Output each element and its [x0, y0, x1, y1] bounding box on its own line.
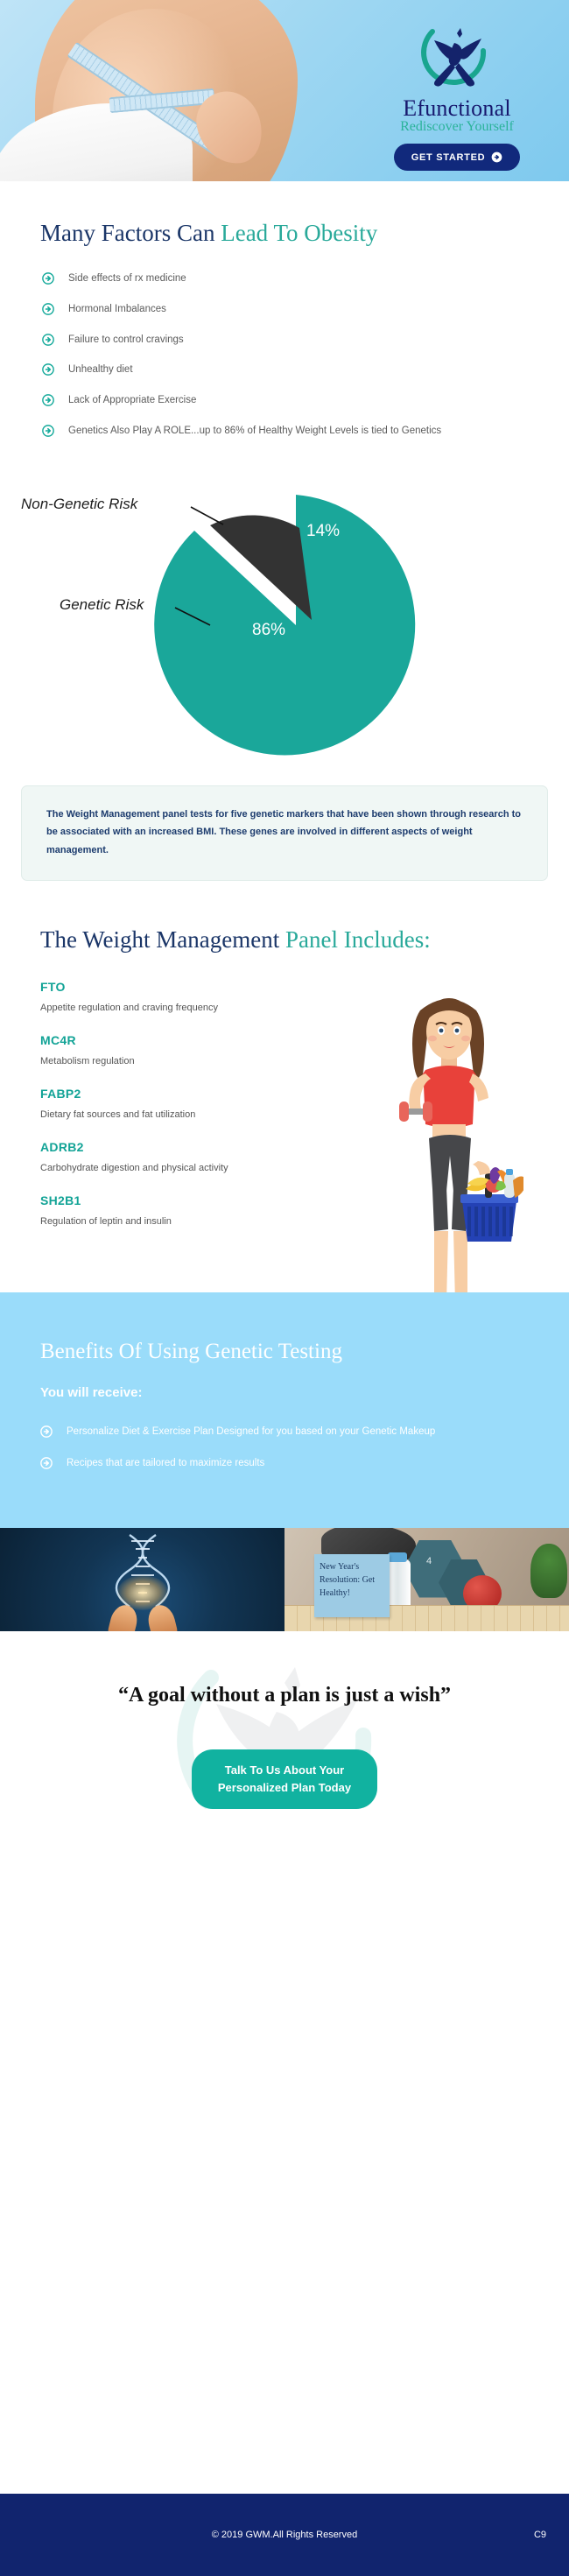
arrow-circle-right-icon — [42, 303, 54, 315]
list-item-label: Side effects of rx medicine — [68, 271, 186, 287]
gene-description: Dietary fat sources and fat utilization — [40, 1109, 329, 1120]
brand-name: Efunctional — [352, 96, 562, 120]
gene-description: Carbohydrate digestion and physical acti… — [40, 1163, 329, 1173]
benefits-subheading: You will receive: — [40, 1385, 529, 1400]
gene-item: MC4R Metabolism regulation — [40, 1033, 329, 1066]
benefits-heading: Benefits Of Using Genetic Testing — [40, 1340, 529, 1364]
arrow-circle-right-icon — [42, 394, 54, 406]
infographic-page: Efunctional Rediscover Yourself GET STAR… — [0, 0, 569, 2576]
fitness-gear-photo: 4 New Year's Resolution: Get Healthy! — [284, 1528, 569, 1631]
page-code: C9 — [534, 2530, 546, 2540]
bottle-cap-shape — [388, 1552, 407, 1562]
factors-section: Many Factors Can Lead To Obesity Side ef… — [0, 181, 569, 440]
list-item-label: Recipes that are tailored to maximize re… — [67, 1456, 264, 1472]
efunctional-logo-icon — [413, 19, 501, 95]
right-hand-shape — [144, 1601, 179, 1630]
gene-description: Regulation of leptin and insulin — [40, 1216, 329, 1227]
gene-item: FABP2 Dietary fat sources and fat utiliz… — [40, 1087, 329, 1120]
weight-management-panel-section: The Weight Management Panel Includes: FT… — [0, 881, 569, 1292]
hero-photo-waist-measurement — [0, 0, 350, 181]
arrow-circle-right-icon — [42, 425, 54, 437]
pie-label-non-genetic-risk: Non-Genetic Risk — [21, 496, 137, 513]
left-hand-shape — [106, 1601, 140, 1630]
get-started-button[interactable]: GET STARTED — [394, 144, 521, 171]
gene-item: FTO Appetite regulation and craving freq… — [40, 980, 329, 1013]
genetic-risk-pie-chart: Non-Genetic Risk Genetic Risk 14% 86% — [0, 459, 569, 778]
photo-strip: 4 New Year's Resolution: Get Healthy! — [0, 1528, 569, 1631]
factors-list: Side effects of rx medicine Hormonal Imb… — [40, 271, 569, 440]
factors-heading-dark: Many Factors Can — [40, 220, 214, 246]
gene-name: FABP2 — [40, 1087, 329, 1101]
list-item: Personalize Diet & Exercise Plan Designe… — [40, 1425, 529, 1440]
dna-helix-photo — [0, 1528, 284, 1631]
panel-heading-teal: Panel Includes: — [285, 926, 431, 953]
list-item: Unhealthy diet — [42, 362, 529, 378]
fitness-woman-illustration — [375, 986, 523, 1336]
leader-line-non-genetic — [191, 507, 223, 524]
list-item: Lack of Appropriate Exercise — [42, 393, 529, 409]
factors-heading-teal: Lead To Obesity — [221, 220, 377, 246]
cta-line-2: Personalized Plan Today — [218, 1781, 351, 1794]
hero-banner: Efunctional Rediscover Yourself GET STAR… — [0, 0, 569, 181]
sticky-note: New Year's Resolution: Get Healthy! — [314, 1554, 390, 1617]
dumbbell-weight-label: 4 — [426, 1556, 432, 1566]
gene-description: Metabolism regulation — [40, 1056, 329, 1066]
gene-description: Appetite regulation and craving frequenc… — [40, 1003, 329, 1013]
motivational-quote: “A goal without a plan is just a wish” — [0, 1684, 569, 1707]
panel-heading: The Weight Management Panel Includes: — [40, 926, 569, 954]
gene-item: ADRB2 Carbohydrate digestion and physica… — [40, 1140, 329, 1173]
brand-tagline: Rediscover Yourself — [352, 119, 562, 135]
pie-value-non-genetic-risk: 14% — [306, 522, 340, 541]
arrow-circle-right-icon — [40, 1425, 53, 1438]
list-item-label: Unhealthy diet — [68, 362, 133, 378]
list-item: Genetics Also Play A ROLE...up to 86% of… — [42, 424, 529, 440]
brand-block: Efunctional Rediscover Yourself GET STAR… — [352, 19, 562, 171]
list-item-label: Genetics Also Play A ROLE...up to 86% of… — [68, 424, 441, 440]
arrow-circle-right-icon — [491, 151, 502, 163]
list-item-label: Lack of Appropriate Exercise — [68, 393, 196, 409]
list-item-label: Hormonal Imbalances — [68, 302, 166, 318]
list-item-label: Failure to control cravings — [68, 333, 184, 348]
panel-note-box: The Weight Management panel tests for fi… — [21, 785, 548, 881]
gene-item: SH2B1 Regulation of leptin and insulin — [40, 1193, 329, 1227]
copyright-text: © 2019 GWM.All Rights Reserved — [212, 2530, 357, 2540]
gene-name: MC4R — [40, 1033, 329, 1047]
grocery-basket-icon — [460, 1167, 523, 1242]
list-item: Failure to control cravings — [42, 333, 529, 348]
benefits-list: Personalize Diet & Exercise Plan Designe… — [40, 1425, 529, 1472]
gene-name: SH2B1 — [40, 1193, 329, 1207]
benefits-section: Benefits Of Using Genetic Testing You wi… — [0, 1292, 569, 1528]
gene-name: ADRB2 — [40, 1140, 329, 1154]
broccoli-shape — [530, 1544, 567, 1598]
cta-line-1: Talk To Us About Your — [225, 1763, 345, 1777]
list-item-label: Personalize Diet & Exercise Plan Designe… — [67, 1425, 435, 1440]
pie-label-genetic-risk: Genetic Risk — [60, 596, 144, 614]
arrow-circle-right-icon — [42, 363, 54, 376]
quote-section: “A goal without a plan is just a wish” T… — [0, 1631, 569, 1809]
arrow-circle-right-icon — [42, 334, 54, 346]
panel-note-section: The Weight Management panel tests for fi… — [0, 778, 569, 881]
cupped-hands-shape — [110, 1607, 175, 1631]
gene-name: FTO — [40, 980, 329, 994]
talk-to-us-button[interactable]: Talk To Us About Your Personalized Plan … — [192, 1749, 377, 1809]
list-item: Side effects of rx medicine — [42, 271, 529, 287]
panel-heading-dark: The Weight Management — [40, 926, 279, 953]
get-started-label: GET STARTED — [411, 152, 486, 163]
list-item: Recipes that are tailored to maximize re… — [40, 1456, 529, 1472]
page-footer: © 2019 GWM.All Rights Reserved C9 — [0, 2494, 569, 2576]
list-item: Hormonal Imbalances — [42, 302, 529, 318]
arrow-circle-right-icon — [40, 1457, 53, 1469]
factors-heading: Many Factors Can Lead To Obesity — [40, 220, 569, 247]
arrow-circle-right-icon — [42, 272, 54, 285]
pie-value-genetic-risk: 86% — [252, 621, 285, 640]
